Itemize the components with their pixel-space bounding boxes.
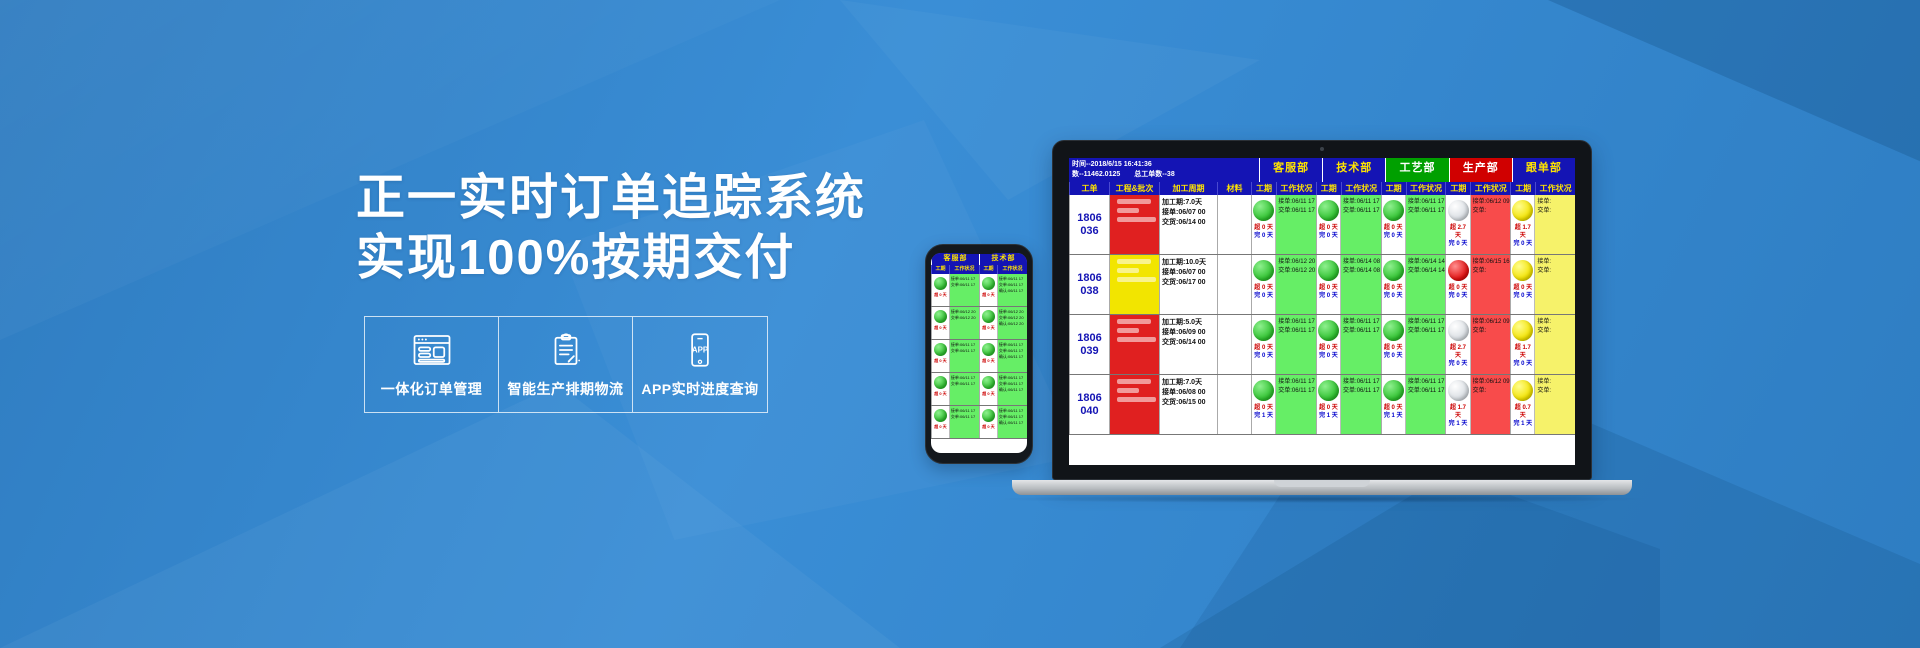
phone-notch [961,247,997,254]
phone-status-lamp-icon [934,409,947,422]
dept-status-cell-0[interactable]: 超 0 天完 0 天接单:06/12 20交单:06/12 20 [1251,255,1316,314]
work-status-column: 接单:交单: [1535,255,1575,314]
done-tag: 完 0 天 [1382,232,1405,240]
laptop-base [1012,480,1632,495]
dept-status-cell-3[interactable]: 超 0 天完 0 天接单:06/15 16交单: [1445,255,1510,314]
dept-status-cell-4[interactable]: 超 0 天完 0 天接单:交单: [1510,255,1575,314]
overdue-tag: 超 0 天 [1252,404,1275,412]
phone-column-header-1-1: 工作状况 [997,265,1027,274]
phone-dept-status-cell-0[interactable]: 超 0 天接单:06/11 17交单:06/11 17 [931,406,979,438]
status-lamp-column: 超 0 天完 1 天 [1382,375,1406,434]
table-row[interactable]: 1806040加工期:7.0天接单:06/08 00交货:06/15 00超 0… [1069,375,1575,435]
status-lamp-icon [1512,200,1533,221]
done-tag: 完 0 天 [1511,240,1534,248]
column-header-4-0: 工期 [1510,182,1535,195]
status-lamp-icon [1318,320,1339,341]
status-lamp-icon [1318,380,1339,401]
phone-overdue-tag: 超 0 天 [980,424,997,430]
work-status-column: 接单:交单: [1535,375,1575,434]
department-header-1: 技术部 [1322,158,1385,182]
board-rows[interactable]: 1806036加工期:7.0天接单:06/07 00交货:06/14 00超 0… [1069,195,1575,435]
status-lamp-column: 超 0 天完 1 天 [1252,375,1276,434]
project-batch-cell [1109,375,1159,434]
order-number-cell: 1806038 [1069,255,1109,314]
status-lamp-icon [1318,200,1339,221]
phone-table-row[interactable]: 超 0 天接单:06/11 17交单:06/11 17超 0 天接单:06/11… [931,406,1027,439]
phone-dept-status-cell-1[interactable]: 超 0 天接单:06/12 20交单:06/12 20确认:06/12 20 [979,307,1027,339]
work-status-column: 接单:06/14 08交单:06/14 08 [1341,255,1381,314]
overdue-tag: 超 0 天 [1382,224,1405,232]
phone-status-lamp-column: 超 0 天 [980,307,998,339]
status-lamp-icon [1253,320,1274,341]
work-status-column: 接单:06/11 17交单:06/11 17 [1341,375,1381,434]
status-lamp-icon [1512,380,1533,401]
project-batch-cell [1109,315,1159,374]
phone-department-strip: 客服部技术部 [931,253,1027,265]
dept-status-cell-1[interactable]: 超 0 天完 0 天接单:06/14 08交单:06/14 08 [1316,255,1381,314]
phone-status-lamp-icon [982,409,995,422]
done-tag: 完 1 天 [1382,412,1405,420]
phone-work-status-column: 接单:06/12 20交单:06/12 20确认:06/12 20 [998,307,1027,339]
phone-status-lamp-icon [934,376,947,389]
column-header-3-1: 工作状况 [1470,182,1510,195]
work-status-column: 接单:06/11 17交单:06/11 17 [1276,315,1316,374]
overdue-tag: 超 0 天 [1252,224,1275,232]
laptop-shadow [992,495,1652,503]
phone-overdue-tag: 超 0 天 [932,424,949,430]
phone-status-lamp-column: 超 0 天 [932,307,950,339]
done-tag: 完 0 天 [1317,352,1340,360]
status-lamp-column: 超 1.7 天完 0 天 [1511,195,1535,254]
order-number-cell: 1806040 [1069,375,1109,434]
overdue-tag: 超 0 天 [1317,284,1340,292]
phone-status-lamp-icon [982,376,995,389]
laptop-screen[interactable]: 时间--2018/6/15 16:41:36 数--11462.0125 总工单… [1069,158,1575,465]
laptop-mockup: 时间--2018/6/15 16:41:36 数--11462.0125 总工单… [1052,140,1592,503]
work-status-column: 接单:06/12 09交单: [1471,375,1511,434]
overdue-tag: 超 0 天 [1317,404,1340,412]
phone-dept-status-cell-1[interactable]: 超 0 天接单:06/11 17交单:06/11 17确认:06/11 17 [979,406,1027,438]
phone-status-lamp-column: 超 0 天 [980,340,998,372]
dept-status-cell-2[interactable]: 超 0 天完 0 天接单:06/11 17交单:06/11 17 [1381,195,1446,254]
laptop-lid: 时间--2018/6/15 16:41:36 数--11462.0125 总工单… [1052,140,1592,480]
phone-table-row[interactable]: 超 0 天接单:06/11 17交单:06/11 17超 0 天接单:06/11… [931,340,1027,373]
board-total-label: 总工单数--38 [1134,170,1174,180]
phone-status-lamp-column: 超 0 天 [932,340,950,372]
work-status-column: 接单:06/15 16交单: [1471,255,1511,314]
cycle-cell: 加工期:7.0天接单:06/07 00交货:06/14 00 [1159,195,1217,254]
board-time-label: 时间--2018/6/15 16:41:36 [1072,160,1256,170]
status-lamp-column: 超 0 天完 0 天 [1382,255,1406,314]
work-status-column: 接单:06/14 14交单:06/14 14 [1406,255,1446,314]
done-tag: 完 0 天 [1252,352,1275,360]
table-row[interactable]: 1806036加工期:7.0天接单:06/07 00交货:06/14 00超 0… [1069,195,1575,255]
done-tag: 完 1 天 [1317,412,1340,420]
overdue-tag: 超 0 天 [1317,224,1340,232]
overdue-tag: 超 2.7 天 [1446,344,1469,360]
status-lamp-column: 超 0 天完 0 天 [1317,255,1341,314]
order-number-cell: 1806039 [1069,315,1109,374]
feature-label-production-scheduling: 智能生产排期物流 [508,379,624,399]
dept-status-cell-1[interactable]: 超 0 天完 0 天接单:06/11 17交单:06/11 17 [1316,195,1381,254]
phone-dept-status-cell-1[interactable]: 超 0 天接单:06/11 17交单:06/11 17确认:06/11 17 [979,340,1027,372]
phone-overdue-tag: 超 0 天 [980,325,997,331]
phone-overdue-tag: 超 0 天 [932,391,949,397]
done-tag: 完 1 天 [1252,412,1275,420]
status-lamp-icon [1383,200,1404,221]
phone-table-row[interactable]: 超 0 天接单:06/12 20交单:06/12 20超 0 天接单:06/12… [931,307,1027,340]
browser-window-icon [411,330,453,370]
phone-work-status-column: 接单:06/11 17交单:06/11 17 [950,406,979,438]
dept-status-cell-3[interactable]: 超 1.7 天完 1 天接单:06/12 09交单: [1445,375,1510,434]
phone-mockup: 客服部技术部 工期工作状况工期工作状况 超 0 天接单:06/11 17交单:0… [925,244,1033,464]
feature-label-app-progress: APP实时进度查询 [641,379,758,399]
column-header-fixed-1: 工程&批次 [1109,182,1159,195]
overdue-tag: 超 1.7 天 [1511,344,1534,360]
phone-work-status-column: 接单:06/11 17交单:06/11 17确认:06/11 17 [998,373,1027,405]
phone-work-status-column: 接单:06/11 17交单:06/11 17确认:06/11 17 [998,406,1027,438]
done-tag: 完 0 天 [1317,292,1340,300]
department-header-4: 跟单部 [1512,158,1575,182]
phone-department-header-0: 客服部 [931,253,979,265]
done-tag: 完 0 天 [1511,360,1534,368]
material-cell [1217,315,1251,374]
department-header-0: 客服部 [1259,158,1322,182]
phone-status-lamp-icon [982,277,995,290]
device-mockups: 客服部技术部 工期工作状况工期工作状况 超 0 天接单:06/11 17交单:0… [0,0,1920,648]
mobile-app-icon: APP [679,330,721,370]
phone-column-header-0-1: 工作状况 [949,265,979,274]
board-header: 时间--2018/6/15 16:41:36 数--11462.0125 总工单… [1069,158,1575,182]
phone-dept-status-cell-0[interactable]: 超 0 天接单:06/12 20交单:06/12 20 [931,307,979,339]
dept-status-cell-2[interactable]: 超 0 天完 1 天接单:06/11 17交单:06/11 17 [1381,375,1446,434]
done-tag: 完 1 天 [1511,420,1534,428]
column-header-1-1: 工作状况 [1341,182,1381,195]
feature-list: 一体化订单管理 智能生产排期物流 APP [364,316,768,413]
work-status-column: 接单:交单: [1535,315,1575,374]
done-tag: 完 0 天 [1382,292,1405,300]
status-lamp-icon [1512,260,1533,281]
dept-status-cell-3[interactable]: 超 2.7 天完 0 天接单:06/12 09交单: [1445,195,1510,254]
department-header-2: 工艺部 [1385,158,1448,182]
phone-overdue-tag: 超 0 天 [980,358,997,364]
work-status-column: 接单:交单: [1535,195,1575,254]
dept-status-cell-3[interactable]: 超 2.7 天完 0 天接单:06/12 09交单: [1445,315,1510,374]
phone-status-lamp-column: 超 0 天 [980,274,998,306]
column-header-1-0: 工期 [1316,182,1341,195]
status-lamp-column: 超 2.7 天完 0 天 [1446,315,1470,374]
status-lamp-icon [1383,320,1404,341]
phone-work-status-column: 接单:06/11 17交单:06/11 17 [950,373,979,405]
phone-overdue-tag: 超 0 天 [980,292,997,298]
column-header-3-0: 工期 [1445,182,1470,195]
overdue-tag: 超 0 天 [1317,344,1340,352]
phone-status-lamp-column: 超 0 天 [932,274,950,306]
status-lamp-column: 超 0.7 天完 1 天 [1511,375,1535,434]
table-row[interactable]: 1806039加工期:5.0天接单:06/09 00交货:06/14 00超 0… [1069,315,1575,375]
status-lamp-column: 超 0 天完 0 天 [1511,255,1535,314]
status-lamp-icon [1448,380,1469,401]
dept-status-cell-0[interactable]: 超 0 天完 1 天接单:06/11 17交单:06/11 17 [1251,375,1316,434]
phone-work-status-column: 接单:06/11 17交单:06/11 17 [950,340,979,372]
status-lamp-icon [1448,320,1469,341]
material-cell [1217,195,1251,254]
work-status-column: 接单:06/12 09交单: [1471,315,1511,374]
overdue-tag: 超 0 天 [1252,344,1275,352]
status-lamp-icon [1512,320,1533,341]
phone-board-header: 客服部技术部 [931,253,1027,265]
phone-column-headers: 工期工作状况工期工作状况 [931,265,1027,274]
column-headers: 工单工程&批次加工周期材料工期工作状况工期工作状况工期工作状况工期工作状况工期工… [1069,182,1575,195]
app-badge-text: APP [692,346,708,355]
phone-status-lamp-icon [934,310,947,323]
dept-status-cell-2[interactable]: 超 0 天完 0 天接单:06/11 17交单:06/11 17 [1381,315,1446,374]
webcam-icon [1320,147,1324,151]
column-header-2-0: 工期 [1381,182,1406,195]
phone-work-status-column: 接单:06/11 17交单:06/11 17确认:06/11 17 [998,274,1027,306]
dept-status-cell-2[interactable]: 超 0 天完 0 天接单:06/14 14交单:06/14 14 [1381,255,1446,314]
status-lamp-icon [1448,260,1469,281]
overdue-tag: 超 0 天 [1382,284,1405,292]
status-lamp-icon [1383,260,1404,281]
work-status-column: 接单:06/11 17交单:06/11 17 [1406,315,1446,374]
status-lamp-icon [1253,380,1274,401]
order-number-cell: 1806036 [1069,195,1109,254]
phone-status-lamp-icon [982,343,995,356]
erp-board: 时间--2018/6/15 16:41:36 数--11462.0125 总工单… [1069,158,1575,465]
phone-status-lamp-icon [982,310,995,323]
overdue-tag: 超 0 天 [1382,404,1405,412]
phone-overdue-tag: 超 0 天 [932,325,949,331]
phone-dept-status-cell-1[interactable]: 超 0 天接单:06/11 17交单:06/11 17确认:06/11 17 [979,373,1027,405]
done-tag: 完 0 天 [1446,240,1469,248]
dept-status-cell-1[interactable]: 超 0 天完 1 天接单:06/11 17交单:06/11 17 [1316,375,1381,434]
phone-column-header-0-0: 工期 [931,265,949,274]
phone-work-status-column: 接单:06/11 17交单:06/11 17确认:06/11 17 [998,340,1027,372]
done-tag: 完 0 天 [1446,292,1469,300]
work-status-column: 接单:06/12 20交单:06/12 20 [1276,255,1316,314]
headline-line-1: 正一实时订单追踪系统 [356,168,866,228]
table-row[interactable]: 1806038加工期:10.0天接单:06/07 00交货:06/17 00超 … [1069,255,1575,315]
done-tag: 完 1 天 [1446,420,1469,428]
dept-status-cell-4[interactable]: 超 1.7 天完 0 天接单:交单: [1510,195,1575,254]
status-lamp-icon [1448,200,1469,221]
done-tag: 完 0 天 [1382,352,1405,360]
overdue-tag: 超 0 天 [1382,344,1405,352]
phone-status-lamp-column: 超 0 天 [932,373,950,405]
overdue-tag: 超 1.7 天 [1446,404,1469,420]
status-lamp-column: 超 0 天完 0 天 [1446,255,1470,314]
work-status-column: 接单:06/11 17交单:06/11 17 [1406,375,1446,434]
column-header-4-1: 工作状况 [1535,182,1575,195]
column-header-fixed-2: 加工周期 [1159,182,1217,195]
done-tag: 完 0 天 [1446,360,1469,368]
status-lamp-column: 超 0 天完 0 天 [1382,315,1406,374]
feature-item-order-management[interactable]: 一体化订单管理 [365,317,499,412]
department-header-3: 生产部 [1449,158,1512,182]
clipboard-pencil-icon [545,330,587,370]
phone-dept-status-cell-0[interactable]: 超 0 天接单:06/11 17交单:06/11 17 [931,373,979,405]
headline-block: 正一实时订单追踪系统 实现100%按期交付 [356,168,866,288]
done-tag: 完 0 天 [1252,232,1275,240]
work-status-column: 接单:06/11 17交单:06/11 17 [1276,375,1316,434]
phone-status-lamp-column: 超 0 天 [980,406,998,438]
cycle-cell: 加工期:7.0天接单:06/08 00交货:06/15 00 [1159,375,1217,434]
phone-overdue-tag: 超 0 天 [932,358,949,364]
status-lamp-column: 超 1.7 天完 1 天 [1446,375,1470,434]
column-header-0-0: 工期 [1251,182,1276,195]
work-status-column: 接单:06/11 17交单:06/11 17 [1276,195,1316,254]
dept-status-cell-4[interactable]: 超 0.7 天完 1 天接单:交单: [1510,375,1575,434]
cycle-cell: 加工期:5.0天接单:06/09 00交货:06/14 00 [1159,315,1217,374]
work-status-column: 接单:06/12 09交单: [1471,195,1511,254]
board-count-label: 数--11462.0125 [1072,170,1120,180]
status-lamp-icon [1253,200,1274,221]
phone-dept-status-cell-0[interactable]: 超 0 天接单:06/11 17交单:06/11 17 [931,274,979,306]
overdue-tag: 超 0 天 [1252,284,1275,292]
phone-table-row[interactable]: 超 0 天接单:06/11 17交单:06/11 17超 0 天接单:06/11… [931,373,1027,406]
column-header-0-1: 工作状况 [1276,182,1316,195]
status-lamp-column: 超 1.7 天完 0 天 [1511,315,1535,374]
work-status-column: 接单:06/11 17交单:06/11 17 [1406,195,1446,254]
dept-status-cell-0[interactable]: 超 0 天完 0 天接单:06/11 17交单:06/11 17 [1251,315,1316,374]
done-tag: 完 0 天 [1252,292,1275,300]
status-lamp-column: 超 0 天完 0 天 [1252,195,1276,254]
department-strip: 客服部技术部工艺部生产部跟单部 [1259,158,1575,182]
phone-body: 客服部技术部 工期工作状况工期工作状况 超 0 天接单:06/11 17交单:0… [925,244,1033,464]
status-lamp-icon [1318,260,1339,281]
project-batch-cell [1109,195,1159,254]
status-lamp-column: 超 0 天完 0 天 [1317,315,1341,374]
phone-status-lamp-icon [934,343,947,356]
material-cell [1217,375,1251,434]
status-lamp-column: 超 0 天完 0 天 [1382,195,1406,254]
status-lamp-column: 超 2.7 天完 0 天 [1446,195,1470,254]
overdue-tag: 超 0 天 [1511,284,1534,292]
overdue-tag: 超 0.7 天 [1511,404,1534,420]
overdue-tag: 超 1.7 天 [1511,224,1534,240]
feature-item-production-scheduling[interactable]: 智能生产排期物流 [499,317,633,412]
phone-status-lamp-column: 超 0 天 [932,406,950,438]
dept-status-cell-4[interactable]: 超 1.7 天完 0 天接单:交单: [1510,315,1575,374]
status-lamp-icon [1253,260,1274,281]
phone-board-rows[interactable]: 超 0 天接单:06/11 17交单:06/11 17超 0 天接单:06/11… [931,274,1027,439]
phone-work-status-column: 接单:06/11 17交单:06/11 17 [950,274,979,306]
phone-overdue-tag: 超 0 天 [980,391,997,397]
overdue-tag: 超 0 天 [1446,284,1469,292]
work-status-column: 接单:06/11 17交单:06/11 17 [1341,195,1381,254]
work-status-column: 接单:06/11 17交单:06/11 17 [1341,315,1381,374]
phone-dept-status-cell-0[interactable]: 超 0 天接单:06/11 17交单:06/11 17 [931,340,979,372]
status-lamp-column: 超 0 天完 0 天 [1252,255,1276,314]
dept-status-cell-0[interactable]: 超 0 天完 0 天接单:06/11 17交单:06/11 17 [1251,195,1316,254]
feature-item-app-progress[interactable]: APP APP实时进度查询 [633,317,767,412]
phone-screen[interactable]: 客服部技术部 工期工作状况工期工作状况 超 0 天接单:06/11 17交单:0… [931,253,1027,453]
column-header-fixed-3: 材料 [1217,182,1251,195]
phone-column-header-1-0: 工期 [979,265,997,274]
phone-table-row[interactable]: 超 0 天接单:06/11 17交单:06/11 17超 0 天接单:06/11… [931,274,1027,307]
board-meta: 时间--2018/6/15 16:41:36 数--11462.0125 总工单… [1069,158,1259,182]
phone-status-lamp-column: 超 0 天 [980,373,998,405]
status-lamp-column: 超 0 天完 0 天 [1317,195,1341,254]
phone-erp-board: 客服部技术部 工期工作状况工期工作状况 超 0 天接单:06/11 17交单:0… [931,253,1027,453]
feature-label-order-management: 一体化订单管理 [381,379,483,399]
cycle-cell: 加工期:10.0天接单:06/07 00交货:06/17 00 [1159,255,1217,314]
status-lamp-column: 超 0 天完 0 天 [1252,315,1276,374]
phone-department-header-1: 技术部 [979,253,1027,265]
project-batch-cell [1109,255,1159,314]
status-lamp-icon [1383,380,1404,401]
material-cell [1217,255,1251,314]
phone-dept-status-cell-1[interactable]: 超 0 天接单:06/11 17交单:06/11 17确认:06/11 17 [979,274,1027,306]
status-lamp-column: 超 0 天完 1 天 [1317,375,1341,434]
phone-overdue-tag: 超 0 天 [932,292,949,298]
dept-status-cell-1[interactable]: 超 0 天完 0 天接单:06/11 17交单:06/11 17 [1316,315,1381,374]
column-header-fixed-0: 工单 [1069,182,1109,195]
phone-work-status-column: 接单:06/12 20交单:06/12 20 [950,307,979,339]
done-tag: 完 0 天 [1317,232,1340,240]
column-header-2-1: 工作状况 [1406,182,1446,195]
headline-line-2: 实现100%按期交付 [356,228,866,288]
done-tag: 完 0 天 [1511,292,1534,300]
overdue-tag: 超 2.7 天 [1446,224,1469,240]
phone-status-lamp-icon [934,277,947,290]
